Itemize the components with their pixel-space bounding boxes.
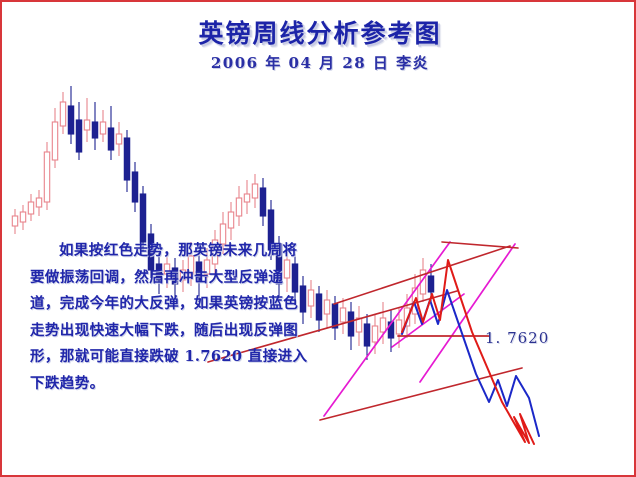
candlestick <box>260 178 265 226</box>
candlestick <box>116 122 121 156</box>
candlestick <box>124 130 129 192</box>
candlestick <box>44 142 49 210</box>
candlestick <box>204 248 209 288</box>
candlestick <box>60 92 65 134</box>
candlestick <box>268 200 273 260</box>
candlestick <box>28 194 33 221</box>
candlestick <box>132 162 137 212</box>
candlestick <box>196 250 201 302</box>
candlestick <box>212 230 217 276</box>
candlestick <box>100 110 105 142</box>
candlestick <box>300 276 305 324</box>
candlestick <box>108 106 113 160</box>
candlestick <box>308 280 313 318</box>
candlestick <box>84 98 89 142</box>
candlestick-series <box>12 86 433 360</box>
candlestick <box>220 212 225 254</box>
candlestick <box>180 260 185 292</box>
candlestick <box>36 190 41 216</box>
candlestick <box>12 209 17 234</box>
candlestick <box>172 258 177 298</box>
candlestick <box>156 252 161 294</box>
candlestick <box>92 102 97 150</box>
candlestick <box>148 224 153 278</box>
candlestick <box>236 186 241 226</box>
candlestick <box>284 250 289 292</box>
candlestick <box>340 298 345 334</box>
candlestick <box>52 108 57 168</box>
candlestick <box>252 174 257 208</box>
trend-line-red <box>442 242 518 248</box>
candlestick <box>76 102 81 160</box>
candlestick <box>244 180 249 214</box>
candlestick <box>188 242 193 286</box>
channel-upper-line <box>334 246 510 304</box>
projection-path-blue <box>402 290 539 436</box>
candlestick <box>348 302 353 350</box>
chart-page: 英镑周线分析参考图 2006 年 04 月 28 日 李炎 如果按红色走势，那英… <box>0 0 636 477</box>
candlestick <box>324 290 329 328</box>
candlestick <box>276 236 281 296</box>
candlestick <box>292 254 297 304</box>
fan-line-magenta <box>392 294 464 347</box>
candlestick <box>140 186 145 252</box>
technical-overlay-layer <box>208 242 539 444</box>
candlestick <box>228 202 233 240</box>
candlestick <box>20 205 25 230</box>
candlestick <box>356 306 361 346</box>
candlestick <box>164 254 169 288</box>
candlestick <box>68 86 73 144</box>
candlestick <box>316 286 321 332</box>
price-chart-canvas <box>2 2 636 477</box>
